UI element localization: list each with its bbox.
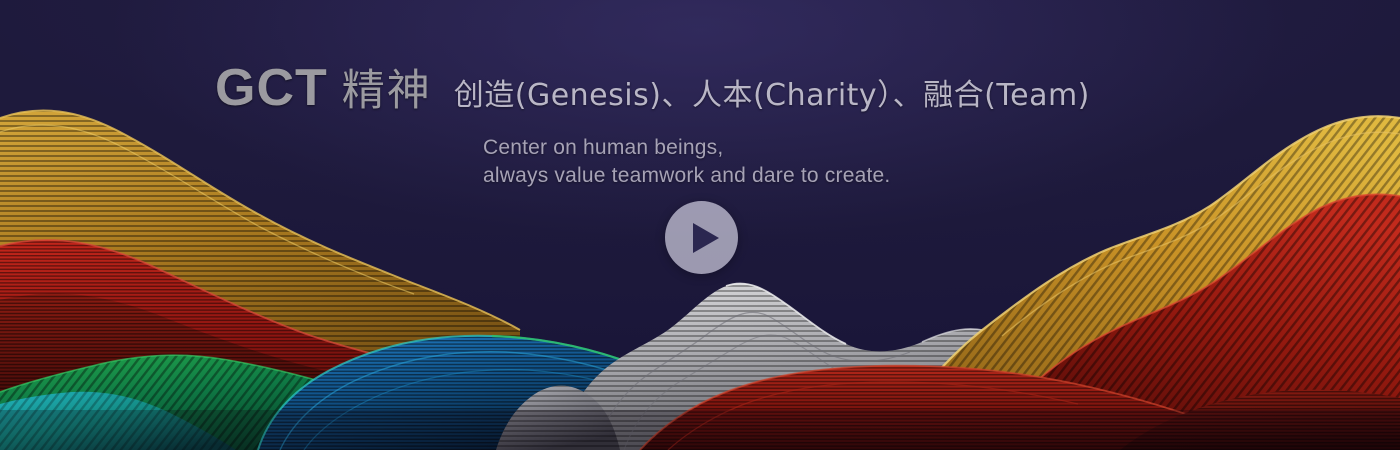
logo-gct: GCT bbox=[215, 62, 328, 114]
logo-chinese: 精神 bbox=[342, 70, 432, 113]
title-row: GCT 精神 创造(Genesis)、人本(Charity）、融合(Team) bbox=[215, 62, 1215, 114]
subtitle-line-1: Center on human beings, bbox=[483, 134, 1215, 162]
tagline: 创造(Genesis)、人本(Charity）、融合(Team) bbox=[454, 81, 1090, 111]
play-triangle-icon bbox=[693, 223, 719, 253]
headline-block: GCT 精神 创造(Genesis)、人本(Charity）、融合(Team) … bbox=[215, 62, 1215, 191]
bottom-vignette bbox=[0, 410, 1400, 450]
play-video-button[interactable] bbox=[665, 201, 738, 274]
subtitle-line-2: always value teamwork and dare to create… bbox=[483, 162, 1215, 190]
subtitle-block: Center on human beings, always value tea… bbox=[483, 134, 1215, 191]
hero-banner: GCT 精神 创造(Genesis)、人本(Charity）、融合(Team) … bbox=[0, 0, 1400, 450]
